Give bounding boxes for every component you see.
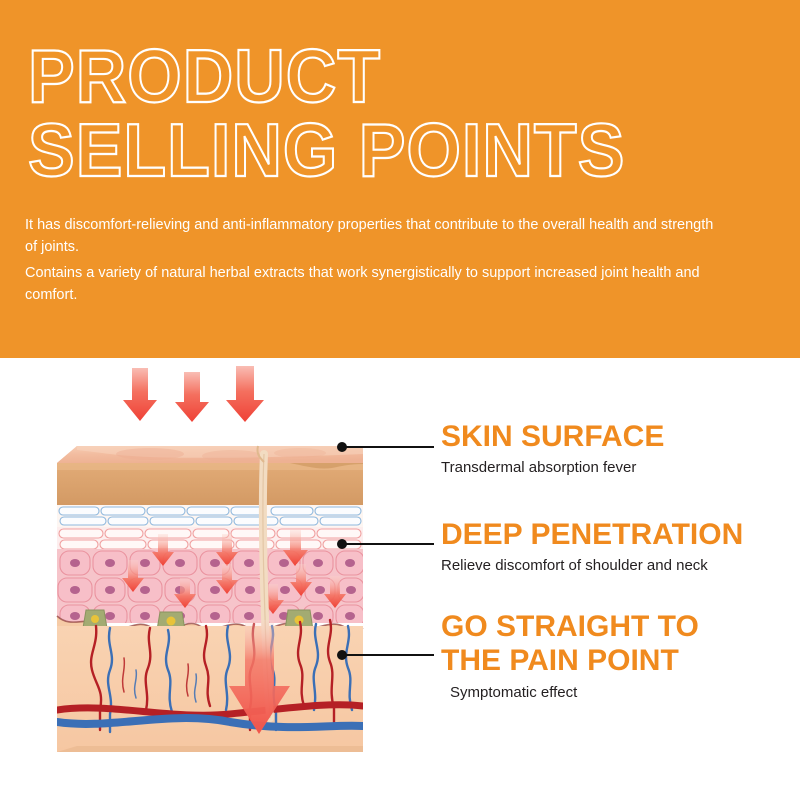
callout-deep-penetration: DEEP PENETRATION Relieve discomfort of s… [441,518,743,576]
granular-layer [57,527,363,549]
page-title: PRODUCT SELLING POINTS [28,36,768,184]
surface-absorption-arrows [123,366,264,422]
banner-description: It has discomfort-relieving and anti-inf… [25,214,725,306]
skin-surface-layer [57,446,363,463]
banner-section: PRODUCT SELLING POINTS It has discomfort… [0,0,800,358]
skin-cross-section-diagram [0,358,800,800]
headline-line-2: SELLING POINTS [28,110,768,190]
headline-line-1: PRODUCT [28,36,768,116]
block-bottom-edge [57,746,363,752]
dermis-layer [57,620,363,752]
callout-deep-penetration-subtitle: Relieve discomfort of shoulder and neck [441,556,743,576]
callout-skin-surface: SKIN SURFACE Transdermal absorption feve… [441,420,664,478]
callout-pain-point-title-line-2: THE PAIN POINT [441,644,699,678]
description-paragraph-2: Contains a variety of natural herbal ext… [25,262,725,306]
callout-deep-penetration-title: DEEP PENETRATION [441,518,743,552]
surface-arrow-2 [175,372,209,422]
description-paragraph-1: It has discomfort-relieving and anti-inf… [25,214,725,258]
callout-skin-surface-subtitle: Transdermal absorption fever [441,458,664,478]
epidermis-layer [57,463,363,505]
product-selling-points-poster: PRODUCT SELLING POINTS It has discomfort… [0,0,800,800]
callout-pain-point-subtitle: Symptomatic effect [450,683,699,703]
callout-pain-point: GO STRAIGHT TO THE PAIN POINT Symptomati… [441,610,699,703]
stratum-corneum-layer [57,505,363,527]
surface-arrow-1 [123,368,157,421]
surface-arrow-3 [226,366,264,422]
callout-pain-point-title-line-1: GO STRAIGHT TO [441,610,699,644]
callout-skin-surface-title: SKIN SURFACE [441,420,664,454]
